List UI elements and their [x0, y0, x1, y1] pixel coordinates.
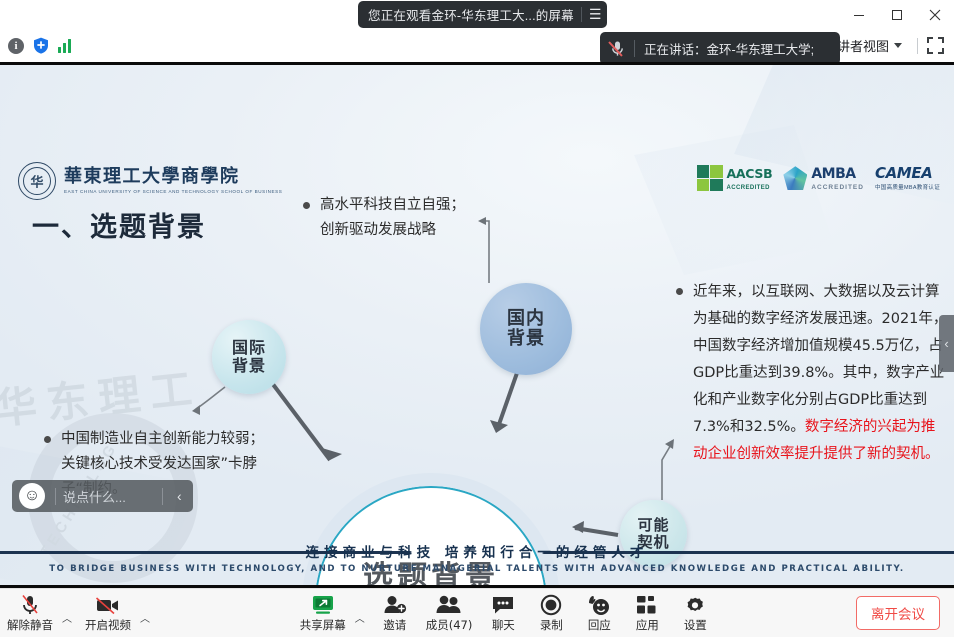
close-button[interactable] [916, 0, 954, 29]
amba-mark-icon [783, 166, 807, 190]
control-record-label: 录制 [540, 617, 563, 633]
speaker-view-dropdown[interactable]: 讲者视图 [831, 33, 908, 58]
amba-sublabel: ACCREDITED [811, 185, 864, 192]
tagline-en: TO BRIDGE BUSINESS WITH TECHNOLOGY, AND … [0, 564, 954, 574]
decorative-polygon [634, 125, 834, 275]
mic-muted-icon [610, 40, 625, 57]
leave-meeting-button[interactable]: 离开会议 [856, 596, 940, 630]
active-speaker-toast: 正在讲话：金环-华东理工大学; [600, 32, 840, 65]
control-settings-label: 设置 [684, 617, 707, 633]
node-line1: 国内 [507, 309, 545, 329]
node-line2: 背景 [507, 329, 545, 349]
control-settings[interactable]: 设置 [671, 592, 719, 634]
info-icon[interactable]: i [8, 38, 24, 54]
bullet-dot [44, 436, 51, 443]
camea-sublabel: 中国高质量MBA教育认证 [875, 186, 940, 192]
accreditation-aacsb: AACSB ACCREDITED [697, 165, 773, 191]
university-seal-icon: 华 [18, 162, 56, 200]
control-reactions[interactable]: 回应 [575, 592, 623, 634]
meeting-window: 您正在观看金环-华东理工大...的屏幕 ☰ i [0, 0, 954, 637]
minimize-button[interactable] [840, 0, 878, 29]
university-name-en: EAST CHINA UNIVERSITY OF SCIENCE AND TEC… [64, 190, 282, 195]
node-line1: 国际 [232, 339, 266, 357]
accreditation-amba: AMBA ACCREDITED [783, 165, 864, 192]
chevron-left-icon[interactable]: ‹ [170, 488, 189, 504]
fullscreen-icon[interactable] [927, 37, 944, 54]
signal-bars-icon[interactable] [58, 39, 71, 53]
accreditation-logos: AACSB ACCREDITED AMBA ACCREDITED CAMEA 中… [697, 165, 940, 192]
camea-label: CAMEA [875, 164, 932, 182]
control-reactions-label: 回应 [588, 617, 611, 633]
bullet-right-plain: 近年来，以互联网、大数据以及云计算为基础的数字经济发展迅速。2021年，中国数字… [693, 284, 947, 435]
control-unmute[interactable]: 解除静音 [0, 592, 60, 634]
bullet-right: 近年来，以互联网、大数据以及云计算为基础的数字经济发展迅速。2021年，中国数字… [676, 279, 948, 468]
shared-screen-stage[interactable]: 华东理工 TECHNOLOGY 华 華東理工大學商學院 EAST CHINA U… [0, 62, 954, 588]
bullet-right-text: 近年来，以互联网、大数据以及云计算为基础的数字经济发展迅速。2021年，中国数字… [693, 279, 948, 468]
share-screen-icon [310, 594, 336, 616]
aacsb-mark-icon [697, 165, 723, 191]
university-name-block: 華東理工大學商學院 EAST CHINA UNIVERSITY OF SCIEN… [64, 168, 282, 195]
control-record[interactable]: 录制 [527, 592, 575, 634]
watermark-chars: 华东理工 [0, 365, 205, 437]
bullet-top-text: 高水平科技自立自强；创新驱动发展战略 [320, 193, 478, 243]
meeting-control-bar: 解除静音 ︿ 开启视频 ︿ [0, 588, 954, 637]
screen-share-notice-text: 您正在观看金环-华东理工大...的屏幕 [368, 5, 574, 24]
divider [917, 38, 918, 54]
seal-mark: 华 [30, 172, 43, 191]
control-start-video-label: 开启视频 [85, 617, 131, 633]
status-icons: i [0, 37, 71, 54]
video-chevron-up-icon[interactable]: ︿ [138, 610, 156, 625]
control-chat[interactable]: 聊天 [479, 592, 527, 634]
shield-plus-icon[interactable] [33, 37, 49, 54]
control-invite[interactable]: 邀请 [371, 592, 419, 634]
reactions-icon [587, 594, 611, 616]
window-titlebar: 您正在观看金环-华东理工大...的屏幕 ☰ [0, 0, 954, 29]
chat-bubble-icon [491, 594, 515, 616]
node-domestic-background: 国内 背景 [480, 283, 572, 375]
slide-footer-tagline: 连接商业与科技 培养知行合一的经管人才 TO BRIDGE BUSINESS W… [0, 539, 954, 585]
university-name-cn: 華東理工大學商學院 [64, 168, 282, 186]
person-add-icon [383, 594, 407, 616]
mic-muted-icon [20, 594, 40, 616]
hamburger-icon[interactable]: ☰ [589, 7, 602, 23]
control-participants[interactable]: 成员(47) [419, 592, 480, 634]
aacsb-sublabel: ACCREDITED [727, 185, 773, 191]
window-controls [840, 0, 954, 29]
unmute-chevron-up-icon[interactable]: ︿ [60, 610, 78, 625]
control-chat-label: 聊天 [492, 617, 515, 633]
slide-title: 一、选题背景 [32, 205, 206, 244]
chat-input-bar[interactable]: ☺ 说点什么... ‹ [12, 480, 193, 512]
node-line1: 可能 [637, 517, 669, 534]
speaker-view-label: 讲者视图 [837, 36, 889, 55]
control-unmute-label: 解除静音 [7, 617, 53, 633]
share-chevron-up-icon[interactable]: ︿ [353, 610, 371, 625]
control-participants-label: 成员(47) [426, 617, 473, 633]
divider [162, 488, 163, 505]
divider [634, 40, 635, 57]
active-speaker-text: 正在讲话：金环-华东理工大学; [644, 39, 814, 58]
gear-icon [684, 594, 706, 616]
university-logo: 华 華東理工大學商學院 EAST CHINA UNIVERSITY OF SCI… [18, 162, 282, 200]
node-international-background: 国际 背景 [212, 320, 286, 394]
bullet-dot [303, 202, 310, 209]
control-apps-label: 应用 [636, 617, 659, 633]
node-line2: 背景 [232, 357, 266, 375]
divider [55, 488, 56, 505]
divider [581, 7, 582, 22]
chevron-down-icon [894, 43, 902, 48]
tagline-cn: 连接商业与科技 培养知行合一的经管人才 [0, 541, 954, 561]
chevron-left-icon: ‹ [944, 336, 948, 351]
people-icon [436, 594, 462, 616]
accreditation-camea: CAMEA 中国高质量MBA教育认证 [875, 165, 940, 192]
aacsb-label: AACSB [727, 166, 773, 181]
maximize-button[interactable] [878, 0, 916, 29]
amba-label: AMBA [811, 166, 855, 182]
screen-share-notice[interactable]: 您正在观看金环-华东理工大...的屏幕 ☰ [358, 1, 607, 28]
control-share-screen[interactable]: 共享屏幕 [293, 592, 353, 634]
control-apps[interactable]: 应用 [623, 592, 671, 634]
emoji-smile-icon[interactable]: ☺ [19, 483, 45, 509]
control-invite-label: 邀请 [383, 617, 406, 633]
bullet-top: 高水平科技自立自强；创新驱动发展战略 [303, 193, 478, 243]
control-start-video[interactable]: 开启视频 [78, 592, 138, 634]
chat-input[interactable]: 说点什么... [63, 487, 155, 506]
apps-grid-icon [636, 594, 658, 616]
record-circle-icon [540, 594, 562, 616]
view-controls: 讲者视图 [831, 33, 954, 58]
control-share-screen-label: 共享屏幕 [300, 617, 346, 633]
panel-collapse-tab[interactable]: ‹ [939, 315, 954, 372]
video-off-icon [95, 594, 121, 616]
bullet-dot [676, 288, 683, 295]
